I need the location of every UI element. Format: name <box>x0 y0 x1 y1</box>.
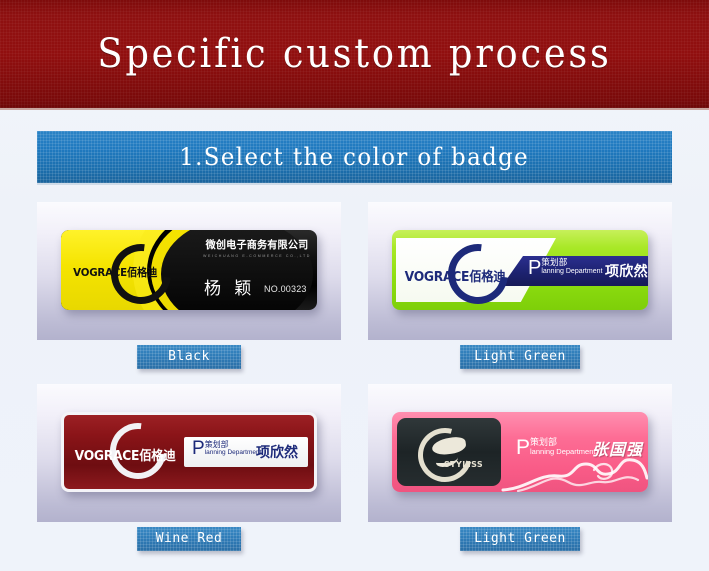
brand-logo-black: VOGRACE佰格迪 <box>69 252 189 288</box>
badge-grid: VOGRACE佰格迪 微创电子商务有限公司 WEICHUANG E-COMMER… <box>37 202 672 566</box>
brand-text-en: VOGRACE <box>75 449 140 464</box>
department-name-cn: 策划部 <box>205 440 262 449</box>
badge-number: NO.00323 <box>264 284 307 294</box>
brand-text: VOGRACE佰格迪 <box>73 264 157 280</box>
brand-text-cn: 佰格迪 <box>469 270 505 285</box>
badge-cell-light-green[interactable]: VOGRACE佰格迪 P 策划部 lanning Department 项欣然 <box>368 202 672 374</box>
page-title: Specific custom process <box>97 31 611 77</box>
company-name-en: WEICHUANG E-COMMERCE CO.,LTD <box>201 254 313 258</box>
brand-text-cn: 佰格迪 <box>127 266 157 279</box>
badge-person-name: 张国强 <box>592 436 643 460</box>
badge-photo-pink[interactable]: STYLISS P 策划部 lanning Department 张国强 <box>368 384 672 522</box>
department-initial: P <box>192 440 205 458</box>
badge-label-wrap-pink: Light Green <box>368 522 672 556</box>
color-label-pink[interactable]: Light Green <box>460 527 580 551</box>
brand-text: VOGRACE佰格迪 <box>75 445 176 464</box>
badge-row-2: VOGRACE佰格迪 P 策划部 lanning Department 项欣然 <box>37 384 672 556</box>
brand-text-en: VOGRACE <box>405 270 470 285</box>
department-block: P 策划部 lanning Department <box>528 259 602 277</box>
page-root: Specific custom process 1.Select the col… <box>0 0 709 571</box>
badge-photo-black[interactable]: VOGRACE佰格迪 微创电子商务有限公司 WEICHUANG E-COMMER… <box>37 202 341 340</box>
section-header-select-color: 1.Select the color of badge <box>37 131 672 185</box>
color-label-wine-red[interactable]: Wine Red <box>137 527 241 551</box>
brand-text-en: STYLISS <box>444 460 483 469</box>
badge-person-name: 杨 颖 <box>204 274 255 299</box>
department-name-cn: 策划部 <box>541 259 602 268</box>
badge-cell-black[interactable]: VOGRACE佰格迪 微创电子商务有限公司 WEICHUANG E-COMMER… <box>37 202 341 374</box>
department-name-en: lanning Department <box>541 268 602 276</box>
badge-photo-light-green[interactable]: VOGRACE佰格迪 P 策划部 lanning Department 项欣然 <box>368 202 672 340</box>
department-initial: P <box>528 259 541 277</box>
department-text-col: 策划部 lanning Department <box>530 438 595 456</box>
section-heading-text: 1.Select the color of badge <box>180 143 530 171</box>
title-banner: Specific custom process <box>0 0 709 110</box>
department-name-en: lanning Department <box>530 448 595 456</box>
company-name-cn: 微创电子商务有限公司 <box>203 237 311 252</box>
badge-black: VOGRACE佰格迪 微创电子商务有限公司 WEICHUANG E-COMMER… <box>61 230 317 310</box>
badge-label-wrap-black: Black <box>37 340 341 374</box>
badge-row-1: VOGRACE佰格迪 微创电子商务有限公司 WEICHUANG E-COMMER… <box>37 202 672 374</box>
badge-label-wrap-wine-red: Wine Red <box>37 522 341 556</box>
department-text-col: 策划部 lanning Department <box>205 440 262 457</box>
badge-pink: STYLISS P 策划部 lanning Department 张国强 <box>392 412 648 492</box>
badge-cell-pink[interactable]: STYLISS P 策划部 lanning Department 张国强 <box>368 384 672 556</box>
brand-text: VOGRACE佰格迪 <box>405 266 506 285</box>
brand-text-cn: 佰格迪 <box>139 449 175 464</box>
department-initial: P <box>516 438 530 457</box>
department-block: P 策划部 lanning Department <box>192 440 261 458</box>
color-label-black[interactable]: Black <box>137 345 241 369</box>
badge-cell-wine-red[interactable]: VOGRACE佰格迪 P 策划部 lanning Department 项欣然 <box>37 384 341 556</box>
badge-light-green: VOGRACE佰格迪 P 策划部 lanning Department 项欣然 <box>392 230 648 310</box>
badge-label-wrap-light-green: Light Green <box>368 340 672 374</box>
color-label-light-green[interactable]: Light Green <box>460 345 580 369</box>
badge-person-name: 项欣然 <box>605 261 648 281</box>
department-text-col: 策划部 lanning Department <box>541 259 602 276</box>
brand-text-en: VOGRACE <box>73 266 127 279</box>
department-name-en: lanning Department <box>205 449 262 457</box>
company-block: 微创电子商务有限公司 WEICHUANG E-COMMERCE CO.,LTD <box>201 237 313 258</box>
department-block: P 策划部 lanning Department <box>516 438 595 457</box>
badge-photo-wine-red[interactable]: VOGRACE佰格迪 P 策划部 lanning Department 项欣然 <box>37 384 341 522</box>
badge-wine-red: VOGRACE佰格迪 P 策划部 lanning Department 项欣然 <box>61 412 317 492</box>
badge-person-name: 项欣然 <box>256 442 298 462</box>
